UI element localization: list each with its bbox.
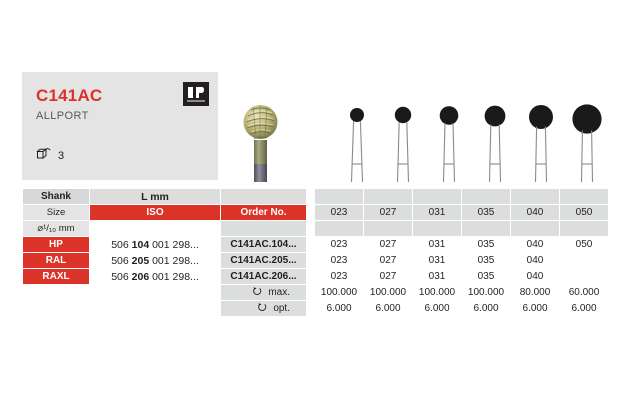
column-gap (307, 285, 315, 301)
size-spacer-035 (462, 221, 511, 237)
shank-blank (23, 285, 90, 301)
iso-suffix: 001 298... (149, 239, 199, 251)
product-info-card: C141AC ALLPORT 3 (22, 72, 218, 180)
order-number-hp: C141AC.104... (221, 237, 307, 253)
iso-prefix: 506 (111, 255, 131, 267)
iso-blank (90, 285, 221, 301)
iso-suffix: 001 298... (149, 255, 199, 267)
specification-table: Shank L mm Size ISO Order No. 023 027 03… (22, 188, 609, 317)
bur-size-050 (570, 102, 604, 182)
size-spacer-027 (364, 221, 413, 237)
max-speed-label: max. (268, 287, 290, 298)
opt-speed-value: 6.000 (560, 301, 609, 317)
pack-quantity-value: 3 (58, 150, 64, 162)
shank-type-ral: RAL (23, 253, 90, 269)
size-band-050 (560, 189, 609, 205)
size-column-header-035: 035 (462, 205, 511, 221)
bur-size-figures (326, 100, 600, 182)
bur-size-027 (386, 102, 420, 182)
round-bur-detail-icon (243, 96, 279, 182)
iso-header: ISO (90, 205, 221, 221)
size-spacer-023 (315, 221, 364, 237)
column-gap (307, 189, 315, 205)
size-cell: 027 (364, 237, 413, 253)
order-number-ral: C141AC.205... (221, 253, 307, 269)
size-cell: 031 (413, 269, 462, 285)
size-cell: 035 (462, 253, 511, 269)
size-column-header-027: 027 (364, 205, 413, 221)
package-box-icon (35, 146, 51, 165)
opt-speed-value: 6.000 (364, 301, 413, 317)
shank-type-raxl: RAXL (23, 269, 90, 285)
iso-code-ral: 506 205 001 298... (90, 253, 221, 269)
size-cell: 031 (413, 237, 462, 253)
table-row: RAXL 506 206 001 298... C141AC.206... 02… (23, 269, 609, 285)
size-spacer-031 (413, 221, 462, 237)
max-speed-value: 100.000 (315, 285, 364, 301)
column-gap (307, 301, 315, 317)
size-cell: 027 (364, 253, 413, 269)
opt-speed-value: 6.000 (511, 301, 560, 317)
bur-size-031 (432, 102, 466, 182)
length-header: L mm (90, 189, 221, 205)
size-cell: 040 (511, 237, 560, 253)
order-header: Order No. (221, 205, 307, 221)
max-speed-value: 60.000 (560, 285, 609, 301)
column-gap (307, 221, 315, 237)
manufacturer-logo-icon (183, 82, 209, 106)
max-speed-value: 100.000 (462, 285, 511, 301)
size-cell: 027 (364, 269, 413, 285)
table-row: RAL 506 205 001 298... C141AC.205... 023… (23, 253, 609, 269)
opt-speed-value: 6.000 (315, 301, 364, 317)
column-gap (307, 205, 315, 221)
max-speed-row: max. 100.000 100.000 100.000 100.000 80.… (23, 285, 609, 301)
iso-spacer (90, 221, 221, 237)
size-band-027 (364, 189, 413, 205)
product-name: ALLPORT (36, 110, 89, 122)
max-speed-value: 100.000 (364, 285, 413, 301)
opt-speed-row: opt. 6.000 6.000 6.000 6.000 6.000 6.000 (23, 301, 609, 317)
size-spacer-050 (560, 221, 609, 237)
column-gap (307, 269, 315, 285)
size-column-header-040: 040 (511, 205, 560, 221)
table-row: HP 506 104 001 298... C141AC.104... 023 … (23, 237, 609, 253)
rotation-arrow-icon (252, 286, 262, 299)
shank-header: Shank (23, 189, 90, 205)
iso-prefix: 506 (111, 271, 131, 283)
size-cell: 035 (462, 237, 511, 253)
bur-size-023 (340, 102, 374, 182)
size-cell: 023 (315, 269, 364, 285)
size-cell: 035 (462, 269, 511, 285)
size-column-header-050: 050 (560, 205, 609, 221)
size-cell: 050 (560, 237, 609, 253)
opt-speed-label-cell: opt. (221, 301, 307, 317)
size-label: Size (23, 205, 90, 221)
iso-suffix: 001 298... (149, 271, 199, 283)
opt-speed-label: opt. (273, 303, 290, 314)
table-header-row-2: Size ISO Order No. 023 027 031 035 040 0… (23, 205, 609, 221)
pack-quantity-row: 3 (35, 146, 64, 165)
iso-prefix: 506 (111, 239, 131, 251)
size-column-header-031: 031 (413, 205, 462, 221)
bur-size-040 (524, 102, 558, 182)
opt-speed-value: 6.000 (413, 301, 462, 317)
size-cell: 023 (315, 237, 364, 253)
order-number-raxl: C141AC.206... (221, 269, 307, 285)
size-cell: 031 (413, 253, 462, 269)
iso-blank (90, 301, 221, 317)
shank-type-hp: HP (23, 237, 90, 253)
size-band-023 (315, 189, 364, 205)
size-cell-empty (560, 253, 609, 269)
size-spacer-040 (511, 221, 560, 237)
size-band-040 (511, 189, 560, 205)
table-header-row-3: ⌀¹/₁₀ mm (23, 221, 609, 237)
size-unit-label: ⌀¹/₁₀ mm (23, 221, 90, 237)
product-code: C141AC (36, 86, 102, 106)
size-band-031 (413, 189, 462, 205)
size-column-header-023: 023 (315, 205, 364, 221)
iso-code-raxl: 506 206 001 298... (90, 269, 221, 285)
max-speed-label-cell: max. (221, 285, 307, 301)
table-header-row-1: Shank L mm (23, 189, 609, 205)
shank-blank (23, 301, 90, 317)
iso-code-hp: 506 104 001 298... (90, 237, 221, 253)
opt-speed-value: 6.000 (462, 301, 511, 317)
size-band-035 (462, 189, 511, 205)
size-cell: 023 (315, 253, 364, 269)
bur-size-035 (478, 102, 512, 182)
iso-key: 206 (132, 271, 150, 283)
size-cell: 040 (511, 269, 560, 285)
size-cell: 040 (511, 253, 560, 269)
max-speed-value: 100.000 (413, 285, 462, 301)
column-gap (307, 253, 315, 269)
iso-key: 104 (132, 239, 150, 251)
size-cell-empty (560, 269, 609, 285)
iso-key: 205 (132, 255, 150, 267)
column-gap (307, 237, 315, 253)
order-spacer (221, 221, 307, 237)
length-header-spacer (221, 189, 307, 205)
rotation-arrow-icon (257, 302, 267, 315)
max-speed-value: 80.000 (511, 285, 560, 301)
